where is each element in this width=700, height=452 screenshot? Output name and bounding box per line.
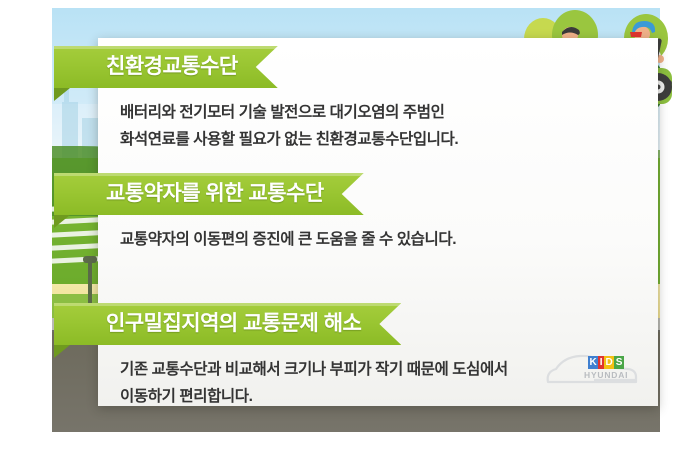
section-1-line-2: 화석연료를 사용할 필요가 없는 친환경교통수단입니다. (120, 127, 658, 154)
section-2-heading: 교통약자를 위한 교통수단 (106, 173, 324, 215)
section-2-body: 교통약자의 이동편의 증진에 큰 도움을 줄 수 있습니다. (120, 227, 658, 254)
section-2: 교통약자를 위한 교통수단 교통약자의 이동편의 증진에 큰 도움을 줄 수 있… (98, 173, 658, 254)
section-1-body: 배터리와 전기모터 기술 발전으로 대기오염의 주범인 화석연료를 사용할 필요… (120, 100, 658, 153)
ribbon-fold-icon (54, 345, 70, 358)
kids-letter-s: S (614, 356, 624, 369)
ribbon-highlight (54, 173, 364, 176)
section-1: 친환경교통수단 배터리와 전기모터 기술 발전으로 대기오염의 주범인 화석연료… (98, 46, 658, 153)
kids-letter-k: K (588, 356, 598, 369)
section-3-heading: 인구밀집지역의 교통문제 해소 (106, 303, 361, 345)
kids-letter-d: D (604, 356, 614, 369)
section-3-ribbon: 인구밀집지역의 교통문제 해소 (54, 303, 658, 345)
ribbon-banner: 교통약자를 위한 교통수단 (54, 173, 364, 215)
street-lamp-icon (88, 260, 92, 308)
hyundai-wordmark: HYUNDAI (584, 370, 628, 380)
section-2-ribbon: 교통약자를 위한 교통수단 (54, 173, 658, 215)
ribbon-banner: 친환경교통수단 (54, 46, 278, 88)
slide-root: 친환경교통수단 배터리와 전기모터 기술 발전으로 대기오염의 주범인 화석연료… (0, 0, 700, 452)
ribbon-fold-icon (54, 88, 70, 101)
ribbon-banner: 인구밀집지역의 교통문제 해소 (54, 303, 401, 345)
ribbon-highlight (54, 46, 278, 49)
section-1-heading: 친환경교통수단 (106, 46, 238, 88)
kids-wordmark: K I D S (588, 356, 624, 369)
ribbon-highlight (54, 303, 401, 306)
section-2-line-1: 교통약자의 이동편의 증진에 큰 도움을 줄 수 있습니다. (120, 227, 658, 254)
section-1-ribbon: 친환경교통수단 (54, 46, 658, 88)
kids-hyundai-logo: K I D S HYUNDAI (542, 348, 640, 392)
section-1-line-1: 배터리와 전기모터 기술 발전으로 대기오염의 주범인 (120, 100, 658, 127)
ribbon-fold-icon (54, 215, 70, 228)
content-card: 친환경교통수단 배터리와 전기모터 기술 발전으로 대기오염의 주범인 화석연료… (98, 38, 658, 406)
